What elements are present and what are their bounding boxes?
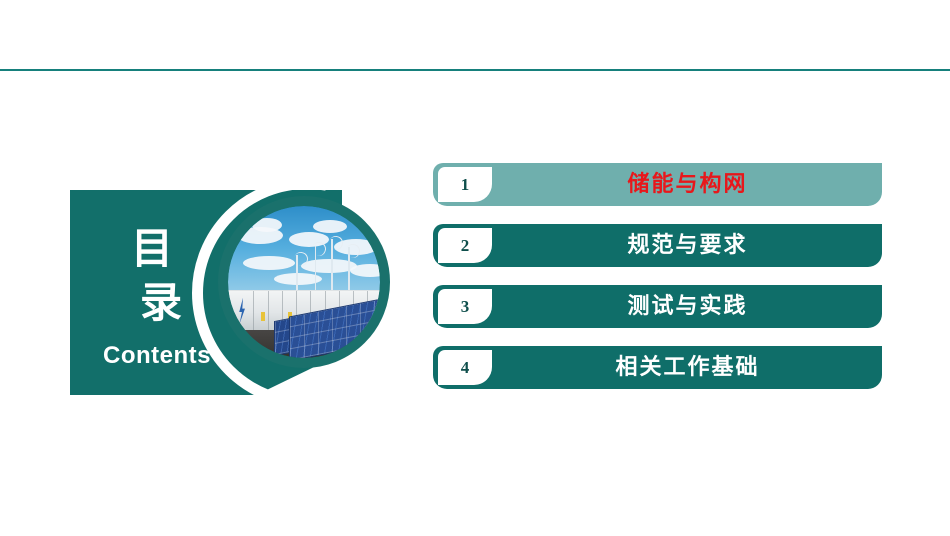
header-divider-line xyxy=(0,69,950,71)
agenda-item-1[interactable]: 1 储能与构网 xyxy=(433,163,882,206)
agenda-list: 1 储能与构网 2 规范与要求 3 测试与实践 4 相关工作基础 xyxy=(433,163,882,407)
agenda-item-1-label: 储能与构网 xyxy=(503,163,872,206)
agenda-item-2-number: 2 xyxy=(438,228,492,263)
agenda-item-2[interactable]: 2 规范与要求 xyxy=(433,224,882,267)
agenda-item-2-label: 规范与要求 xyxy=(503,224,872,267)
agenda-item-1-number: 1 xyxy=(438,167,492,202)
cloud-icon xyxy=(313,220,347,233)
cloud-icon xyxy=(350,264,380,277)
agenda-item-3-number: 3 xyxy=(438,289,492,324)
energy-storage-photo xyxy=(228,206,380,358)
contents-photo-circle xyxy=(218,196,390,368)
agenda-item-4[interactable]: 4 相关工作基础 xyxy=(433,346,882,389)
agenda-item-3[interactable]: 3 测试与实践 xyxy=(433,285,882,328)
agenda-item-4-number: 4 xyxy=(438,350,492,385)
agenda-item-4-label: 相关工作基础 xyxy=(503,346,872,389)
agenda-item-3-label: 测试与实践 xyxy=(503,285,872,328)
lightning-bolt-icon xyxy=(238,298,247,324)
contents-panel: 目 录 Contents xyxy=(70,190,390,395)
slide-canvas: { "slide": { "type": "agenda-slide", "ba… xyxy=(0,0,950,536)
